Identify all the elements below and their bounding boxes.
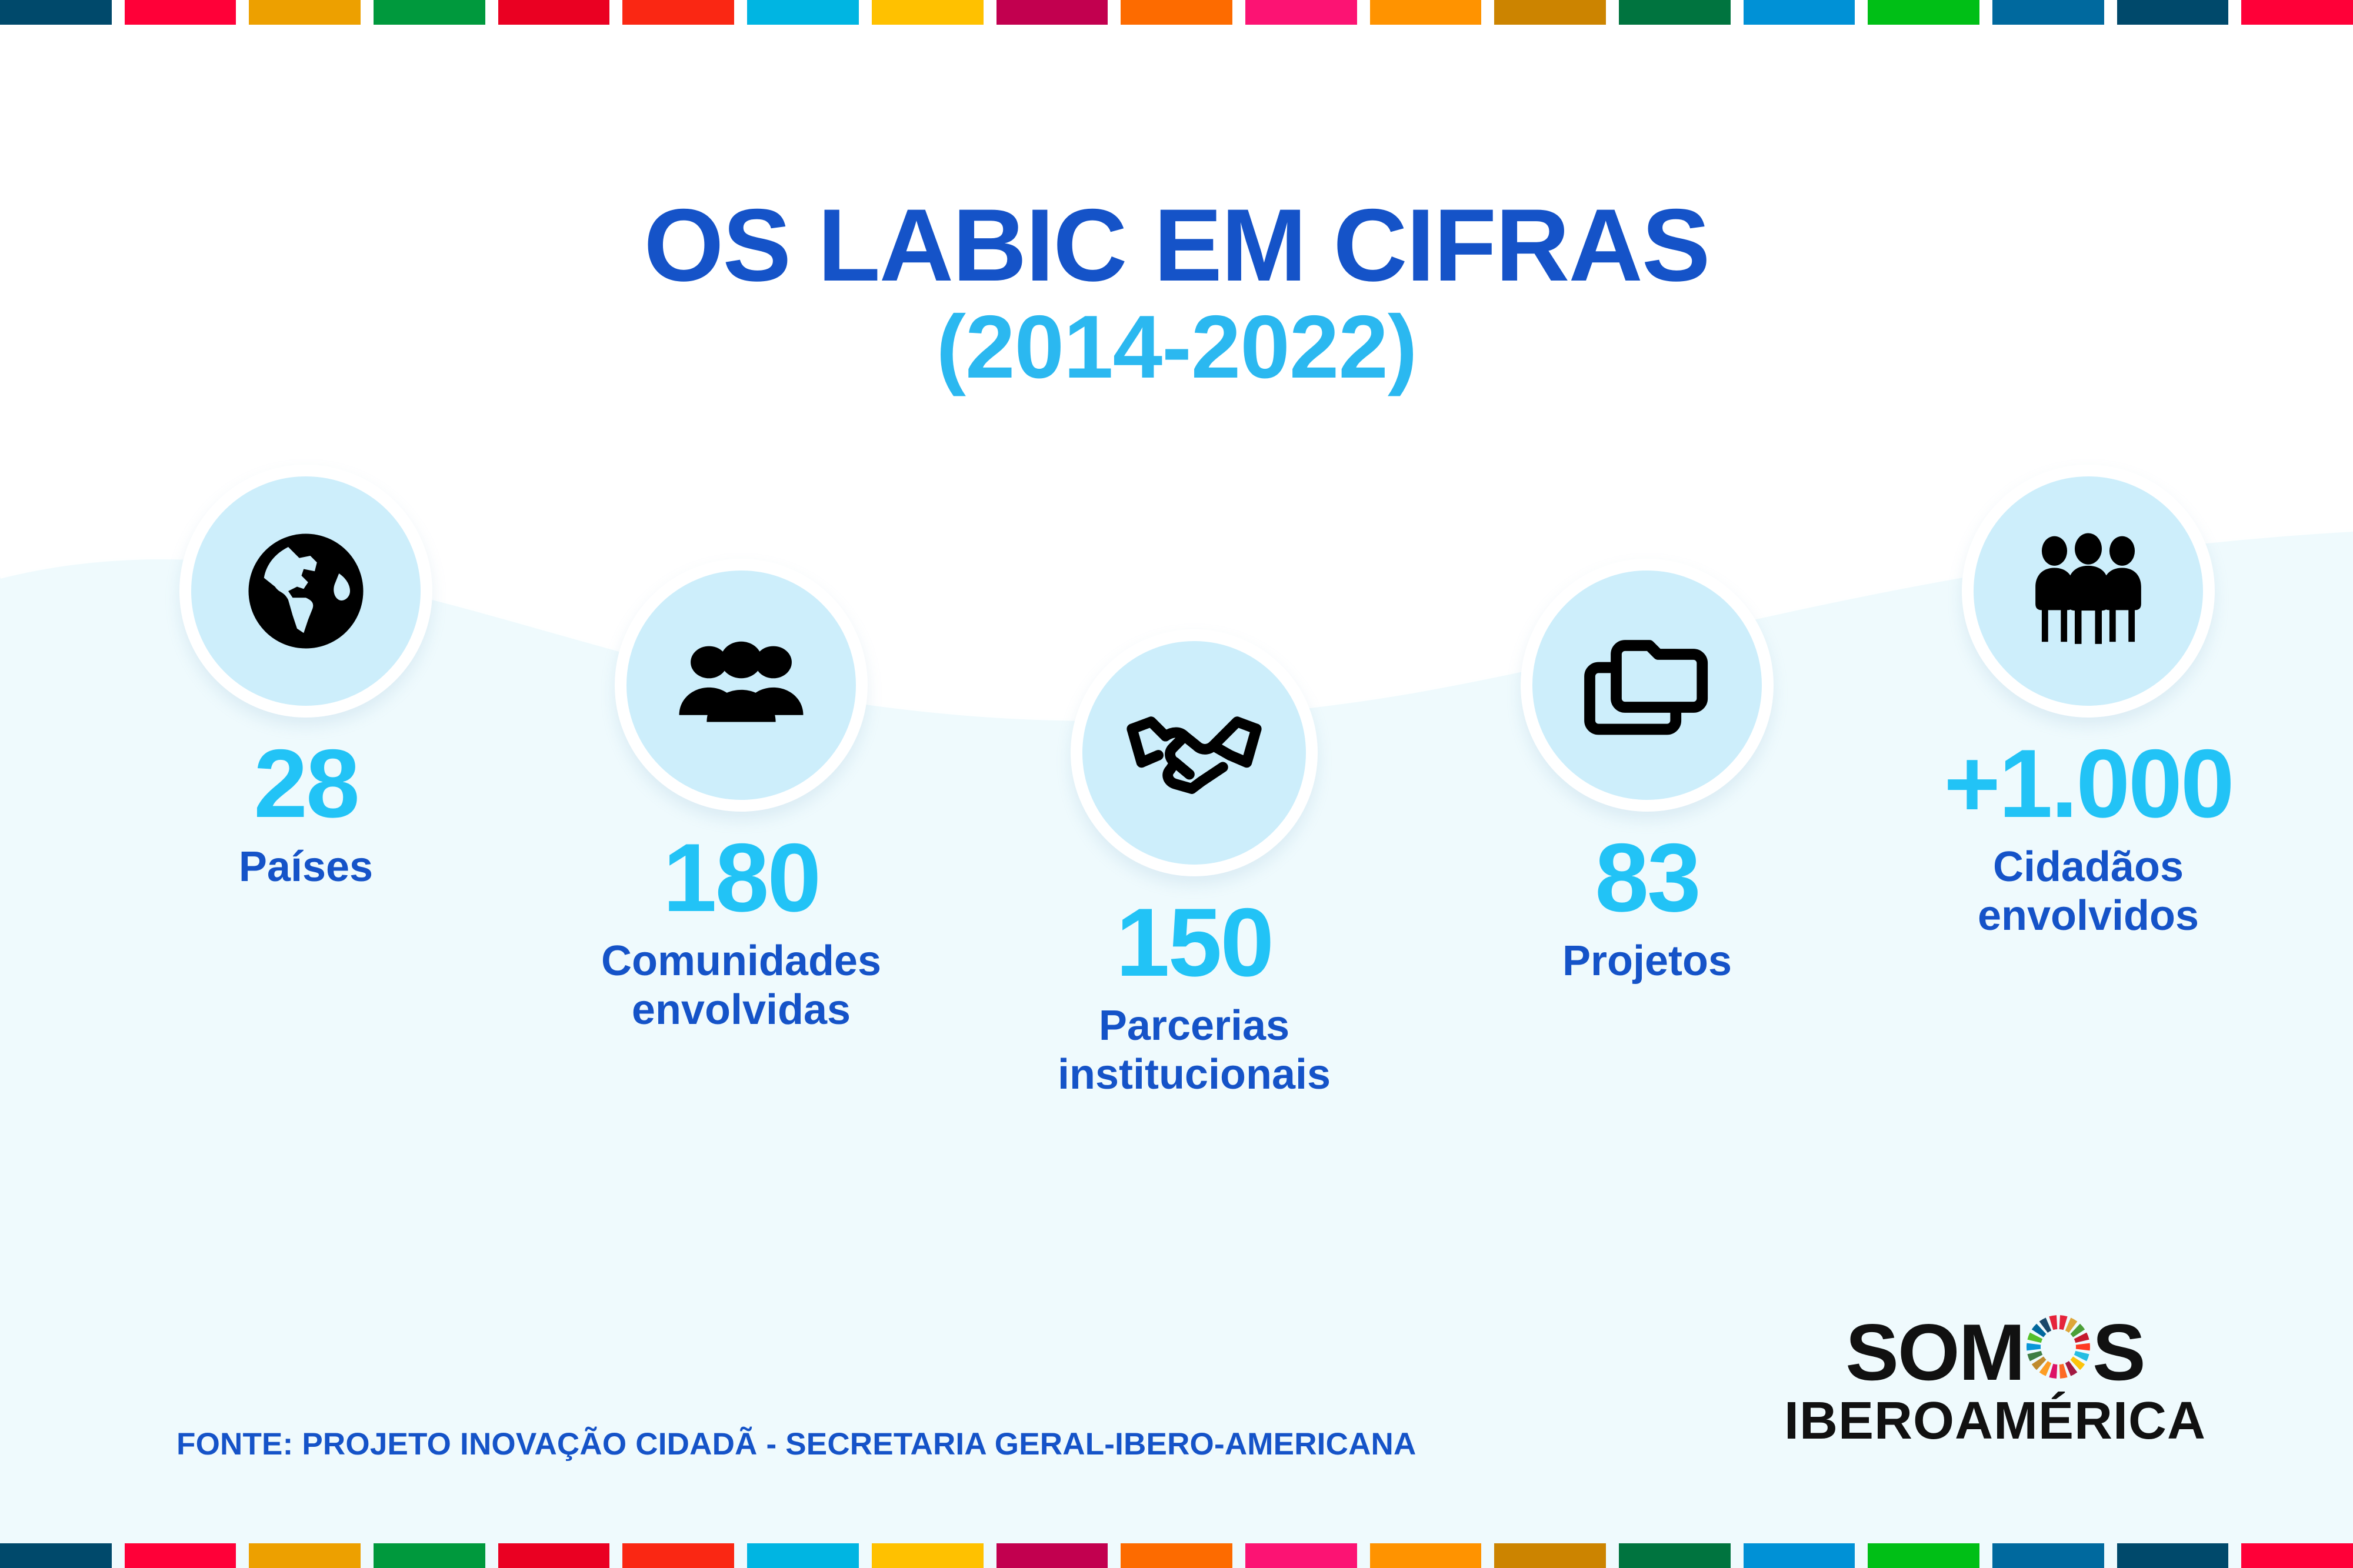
sdg-color-segment [1868, 1543, 1979, 1568]
stat-number: +1.000 [1871, 735, 2306, 832]
sdg-color-segment [249, 0, 361, 25]
source-note: FONTE: PROJETO INOVAÇÃO CIDADÃ - SECRETA… [176, 1426, 1417, 1462]
sdg-color-segment [0, 1543, 112, 1568]
somos-iberoamerica-logo: SOM S IBEROAMÉRICA [1784, 1312, 2206, 1447]
stat-number: 83 [1441, 829, 1853, 926]
sdg-color-segment [1992, 0, 2104, 25]
sdg-color-bar-top [0, 0, 2353, 25]
sdg-wheel-segment [2059, 1364, 2068, 1379]
stat-label-line-2: envolvidos [1871, 892, 2306, 940]
logo-line-1: SOM S [1784, 1312, 2206, 1392]
icon-circle-handshake [1071, 629, 1318, 876]
sdg-color-segment [498, 0, 610, 25]
sdg-color-segment [1494, 0, 1606, 25]
sdg-color-segment [1121, 1543, 1232, 1568]
sdg-color-segment [1619, 0, 1731, 25]
sdg-color-segment [2117, 1543, 2229, 1568]
stat-label: Países [100, 843, 512, 892]
sdg-color-segment [996, 1543, 1108, 1568]
icon-circle-globe [179, 465, 432, 718]
stat-label-line-1: Parcerias [976, 1002, 1412, 1050]
stat-item-parcerias: 150 Parcerias institucionais [976, 629, 1412, 1099]
sdg-wheel-segment [2076, 1343, 2090, 1351]
sdg-wheel-icon [2025, 1312, 2091, 1392]
sdg-color-segment [747, 0, 859, 25]
stat-number: 180 [524, 829, 959, 926]
icon-circle-folders [1521, 559, 1774, 812]
globe-icon [235, 521, 376, 662]
sdg-color-segment [2117, 0, 2229, 25]
sdg-color-segment [1494, 1543, 1606, 1568]
sdg-color-segment [622, 0, 734, 25]
stats-row: 28 Países 180 Comunidades [0, 459, 2353, 1223]
three-persons-icon [2021, 523, 2156, 659]
handshake-icon [1118, 676, 1271, 829]
stat-number: 28 [100, 735, 512, 832]
sdg-color-segment [1744, 1543, 1855, 1568]
sdg-color-segment [1370, 0, 1482, 25]
stat-label-line-1: Comunidades [524, 937, 959, 986]
sdg-color-segment [498, 1543, 610, 1568]
folders-icon [1577, 615, 1718, 756]
stat-item-projetos: 83 Projetos [1441, 559, 1853, 986]
icon-circle-three-persons [1962, 465, 2215, 718]
sdg-color-segment [1992, 1543, 2104, 1568]
infographic-poster: OS LABIC EM CIFRAS (2014-2022) 28 Países [0, 0, 2353, 1568]
sdg-color-segment [622, 1543, 734, 1568]
sdg-color-segment [872, 0, 984, 25]
logo-text-som: SOM [1845, 1312, 2024, 1392]
sdg-color-segment [747, 1543, 859, 1568]
stat-label-line-1: Cidadãos [1871, 843, 2306, 892]
sdg-color-segment [125, 0, 236, 25]
logo-line-2: IBEROAMÉRICA [1784, 1394, 2206, 1447]
stat-item-comunidades: 180 Comunidades envolvidas [524, 559, 959, 1035]
page-title: OS LABIC EM CIFRAS [0, 194, 2353, 297]
logo-text-s: S [2092, 1312, 2145, 1392]
sdg-color-segment [125, 1543, 236, 1568]
sdg-color-segment [0, 0, 112, 25]
people-group-icon [668, 612, 815, 759]
sdg-color-segment [1370, 1543, 1482, 1568]
sdg-color-segment [1868, 0, 1979, 25]
sdg-wheel-segment [2059, 1315, 2068, 1330]
icon-circle-people-group [615, 559, 868, 812]
sdg-color-segment [374, 0, 485, 25]
stat-label: Projetos [1441, 937, 1853, 986]
sdg-color-segment [2241, 1543, 2353, 1568]
title-block: OS LABIC EM CIFRAS (2014-2022) [0, 194, 2353, 397]
sdg-wheel-segment [2049, 1364, 2057, 1379]
stat-label: Parcerias institucionais [976, 1002, 1412, 1099]
stat-label-line-2: institucionais [976, 1050, 1412, 1099]
sdg-color-segment [374, 1543, 485, 1568]
sdg-color-segment [1245, 0, 1357, 25]
sdg-color-segment [1245, 1543, 1357, 1568]
stat-label-line-2: envolvidas [524, 986, 959, 1035]
stat-label: Cidadãos envolvidos [1871, 843, 2306, 940]
stat-label: Comunidades envolvidas [524, 937, 959, 1035]
sdg-color-segment [872, 1543, 984, 1568]
sdg-wheel-segment [2027, 1343, 2041, 1351]
stat-item-paises: 28 Países [100, 465, 512, 892]
sdg-color-segment [2241, 0, 2353, 25]
sdg-color-bar-bottom [0, 1543, 2353, 1568]
page-subtitle: (2014-2022) [0, 297, 2353, 397]
sdg-color-segment [1744, 0, 1855, 25]
sdg-color-segment [249, 1543, 361, 1568]
stat-item-cidadaos: +1.000 Cidadãos envolvidos [1871, 465, 2306, 940]
sdg-color-segment [1121, 0, 1232, 25]
sdg-color-segment [1619, 1543, 1731, 1568]
stat-number: 150 [976, 894, 1412, 991]
sdg-wheel-segment [2049, 1315, 2057, 1330]
sdg-color-segment [996, 0, 1108, 25]
